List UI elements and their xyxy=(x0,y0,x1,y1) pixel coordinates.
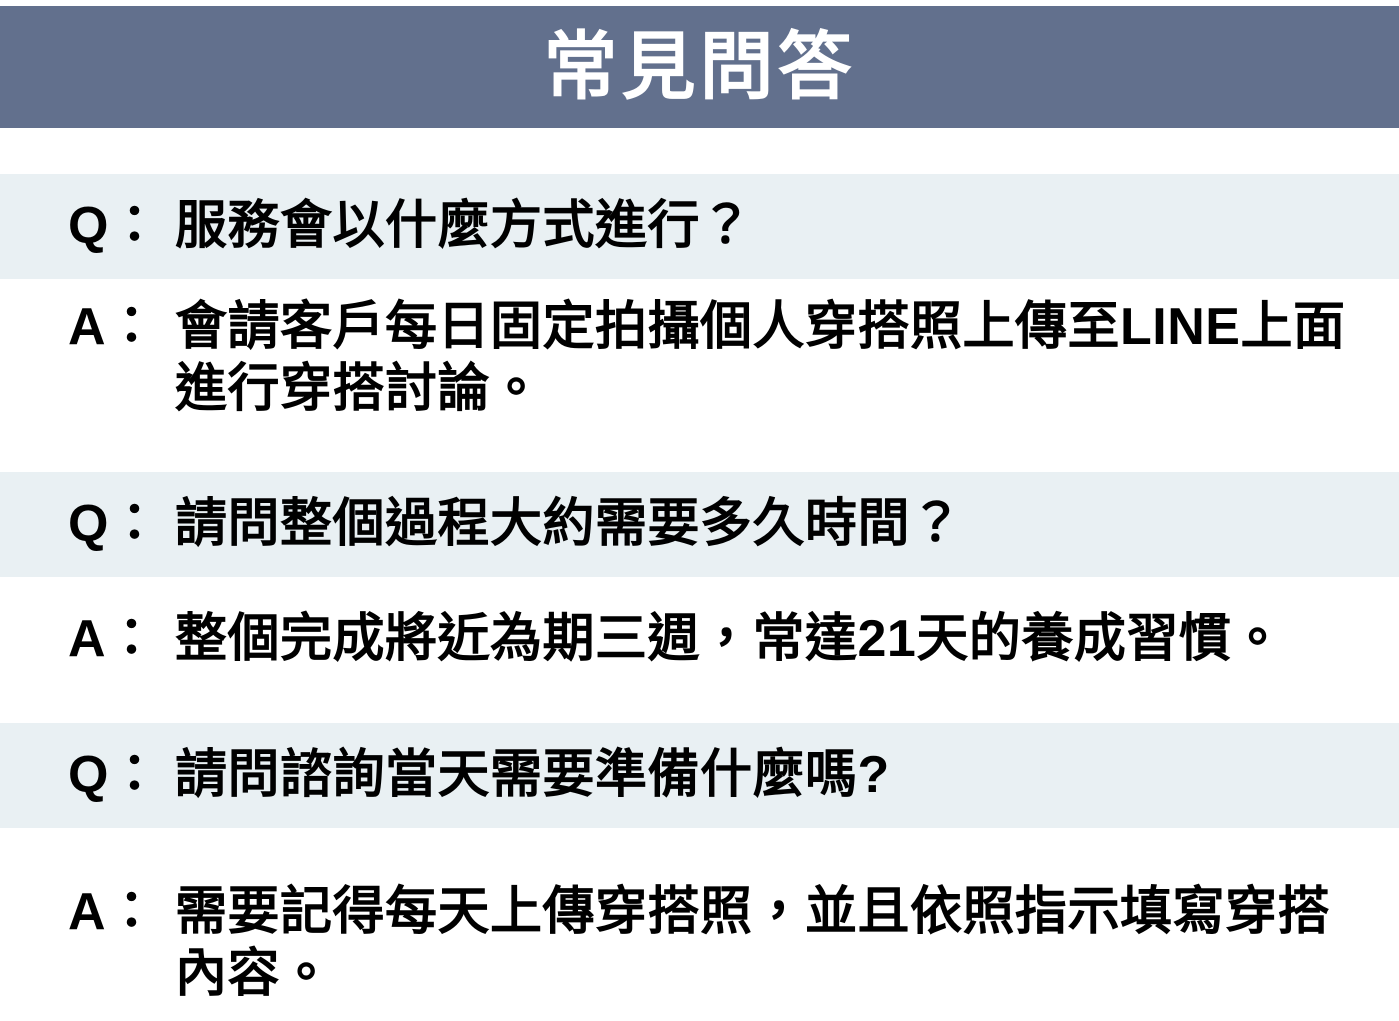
faq-question-line: Q： 請問整個過程大約需要多久時間？ xyxy=(0,494,1399,555)
faq-question-row: Q： 請問諮詢當天需要準備什麼嗎? xyxy=(0,723,1399,828)
faq-answer-row: A： 整個完成將近為期三週，常達21天的養成習慣。 xyxy=(0,591,1399,686)
question-prefix: Q： xyxy=(68,196,175,257)
faq-answer-row: A： 會請客戶每日固定拍攝個人穿搭照上傳至LINE上面進行穿搭討論。 xyxy=(0,279,1399,436)
question-text: 服務會以什麼方式進行？ xyxy=(175,196,1359,257)
answer-text: 整個完成將近為期三週，常達21天的養成習慣。 xyxy=(175,609,1359,670)
faq-question-line: Q： 請問諮詢當天需要準備什麼嗎? xyxy=(0,745,1399,806)
question-prefix: Q： xyxy=(68,494,175,555)
faq-page: 常見問答 Q： 服務會以什麼方式進行？ A： 會請客戶每日固定拍攝個人穿搭照上傳… xyxy=(0,0,1399,1006)
question-text: 請問整個過程大約需要多久時間？ xyxy=(175,494,1359,555)
question-prefix: Q： xyxy=(68,745,175,806)
page-title: 常見問答 xyxy=(544,30,856,104)
faq-question-row: Q： 請問整個過程大約需要多久時間？ xyxy=(0,472,1399,577)
answer-prefix: A： xyxy=(68,609,175,670)
faq-question-row: Q： 服務會以什麼方式進行？ xyxy=(0,174,1399,279)
answer-prefix: A： xyxy=(68,882,175,943)
faq-question-line: Q： 服務會以什麼方式進行？ xyxy=(0,196,1399,257)
answer-prefix: A： xyxy=(68,297,175,358)
answer-text: 會請客戶每日固定拍攝個人穿搭照上傳至LINE上面進行穿搭討論。 xyxy=(175,297,1359,420)
faq-list: Q： 服務會以什麼方式進行？ A： 會請客戶每日固定拍攝個人穿搭照上傳至LINE… xyxy=(0,128,1399,1021)
answer-text: 需要記得每天上傳穿搭照，並且依照指示填寫穿搭內容。 xyxy=(175,882,1359,1005)
spacer-q2-a2 xyxy=(0,577,1399,591)
question-text: 請問諮詢當天需要準備什麼嗎? xyxy=(175,745,1359,806)
faq-answer-line: A： 整個完成將近為期三週，常達21天的養成習慣。 xyxy=(0,609,1399,670)
faq-header-bar: 常見問答 xyxy=(0,6,1399,128)
spacer-before-q2 xyxy=(0,436,1399,472)
faq-answer-line: A： 會請客戶每日固定拍攝個人穿搭照上傳至LINE上面進行穿搭討論。 xyxy=(0,297,1399,420)
spacer-before-q3 xyxy=(0,687,1399,723)
faq-answer-row: A： 需要記得每天上傳穿搭照，並且依照指示填寫穿搭內容。 xyxy=(0,864,1399,1021)
spacer-before-q1 xyxy=(0,128,1399,174)
spacer-q3-a3 xyxy=(0,828,1399,864)
faq-answer-line: A： 需要記得每天上傳穿搭照，並且依照指示填寫穿搭內容。 xyxy=(0,882,1399,1005)
